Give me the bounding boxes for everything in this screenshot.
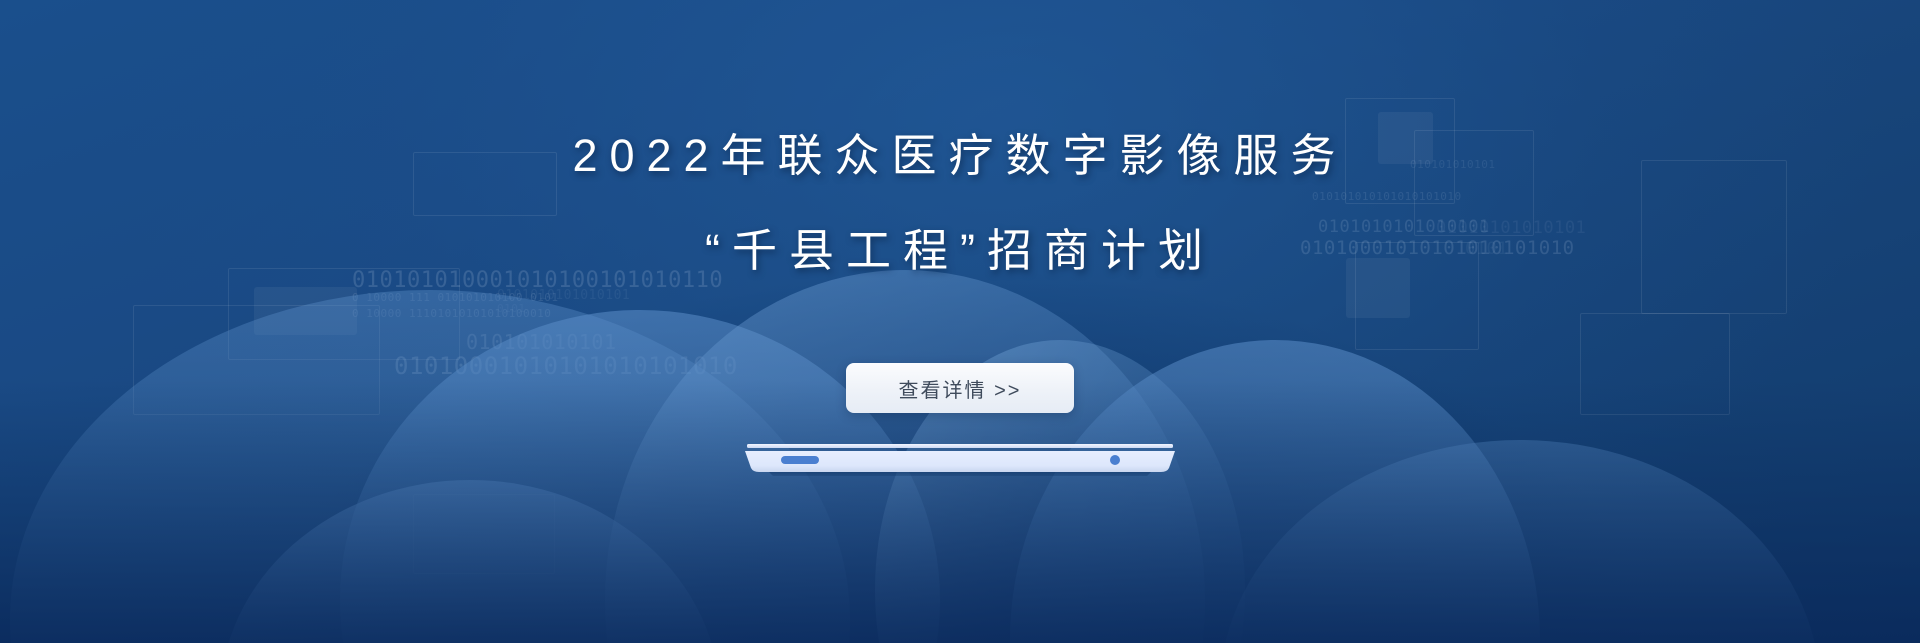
banner-headline: 2022年联众医疗数字影像服务 “千县工程”招商计划 [0,108,1920,298]
view-details-button[interactable]: 查看详情 >> [846,363,1074,413]
headline-line-1: 2022年联众医疗数字影像服务 [0,108,1920,203]
cloud-illustration [0,0,1920,643]
laptop-base-icon [745,442,1175,476]
promo-banner: 010101010001010100101010110 0 10000 111 … [0,0,1920,643]
headline-line-2: “千县工程”招商计划 [0,203,1920,298]
